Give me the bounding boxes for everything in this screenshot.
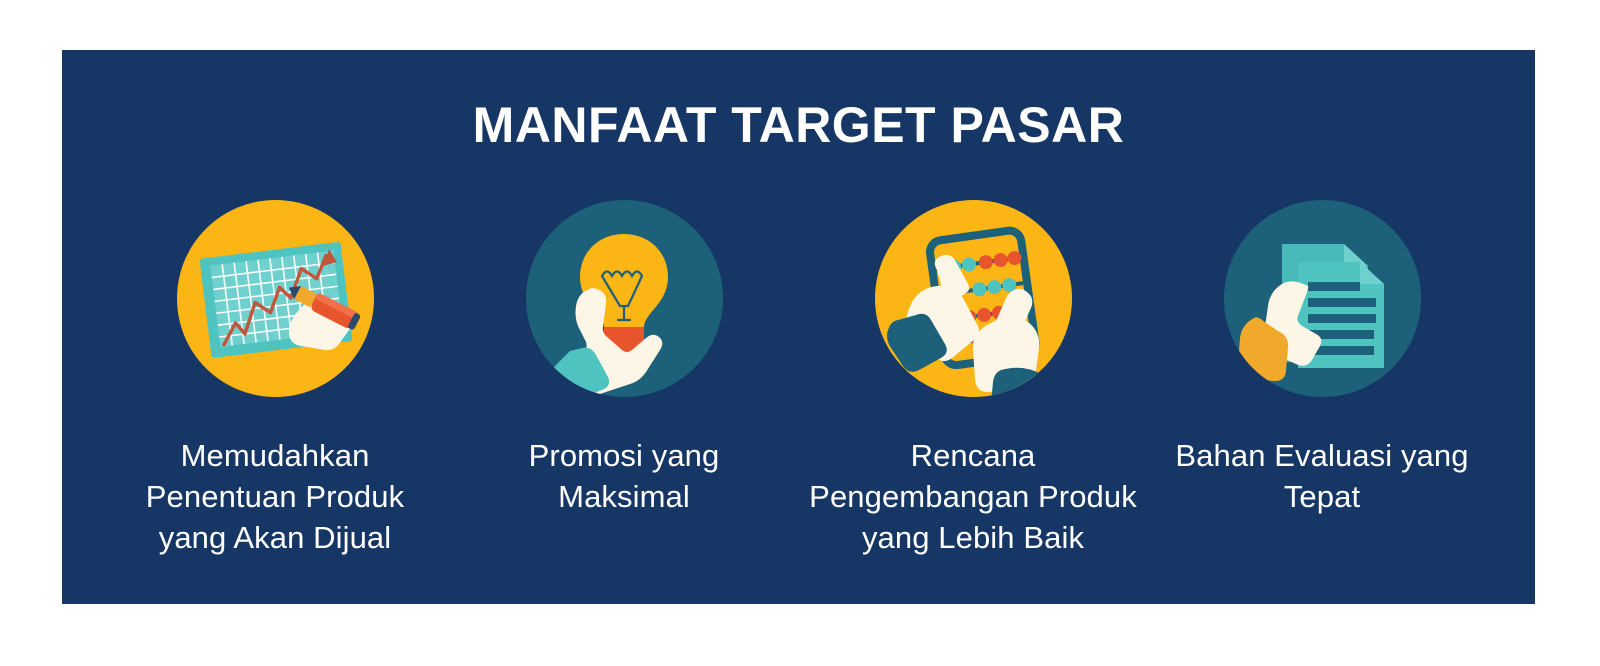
benefit-card-4: Bahan Evaluasi yang Tepat: [1157, 200, 1487, 517]
abacus-tablet-hands-icon: [875, 200, 1072, 397]
benefit-card-1: Memudahkan Penentuan Produk yang Akan Di…: [110, 200, 440, 558]
documents-in-hand-icon: [1224, 200, 1421, 397]
benefit-card-3: Rencana Pengembangan Produk yang Lebih B…: [808, 200, 1138, 558]
benefit-caption-1: Memudahkan Penentuan Produk yang Akan Di…: [110, 435, 440, 558]
benefit-caption-3: Rencana Pengembangan Produk yang Lebih B…: [808, 435, 1138, 558]
benefit-cards-row: Memudahkan Penentuan Produk yang Akan Di…: [62, 200, 1535, 600]
benefit-caption-4: Bahan Evaluasi yang Tepat: [1157, 435, 1487, 517]
page-title: MANFAAT TARGET PASAR: [62, 96, 1535, 154]
infographic-canvas: MANFAAT TARGET PASAR: [0, 0, 1600, 666]
benefit-card-2: Promosi yang Maksimal: [459, 200, 789, 517]
benefit-caption-2: Promosi yang Maksimal: [459, 435, 789, 517]
lightbulb-in-hand-icon: [526, 200, 723, 397]
growth-chart-hand-pen-icon: [177, 200, 374, 397]
infographic-panel: MANFAAT TARGET PASAR: [62, 50, 1535, 604]
